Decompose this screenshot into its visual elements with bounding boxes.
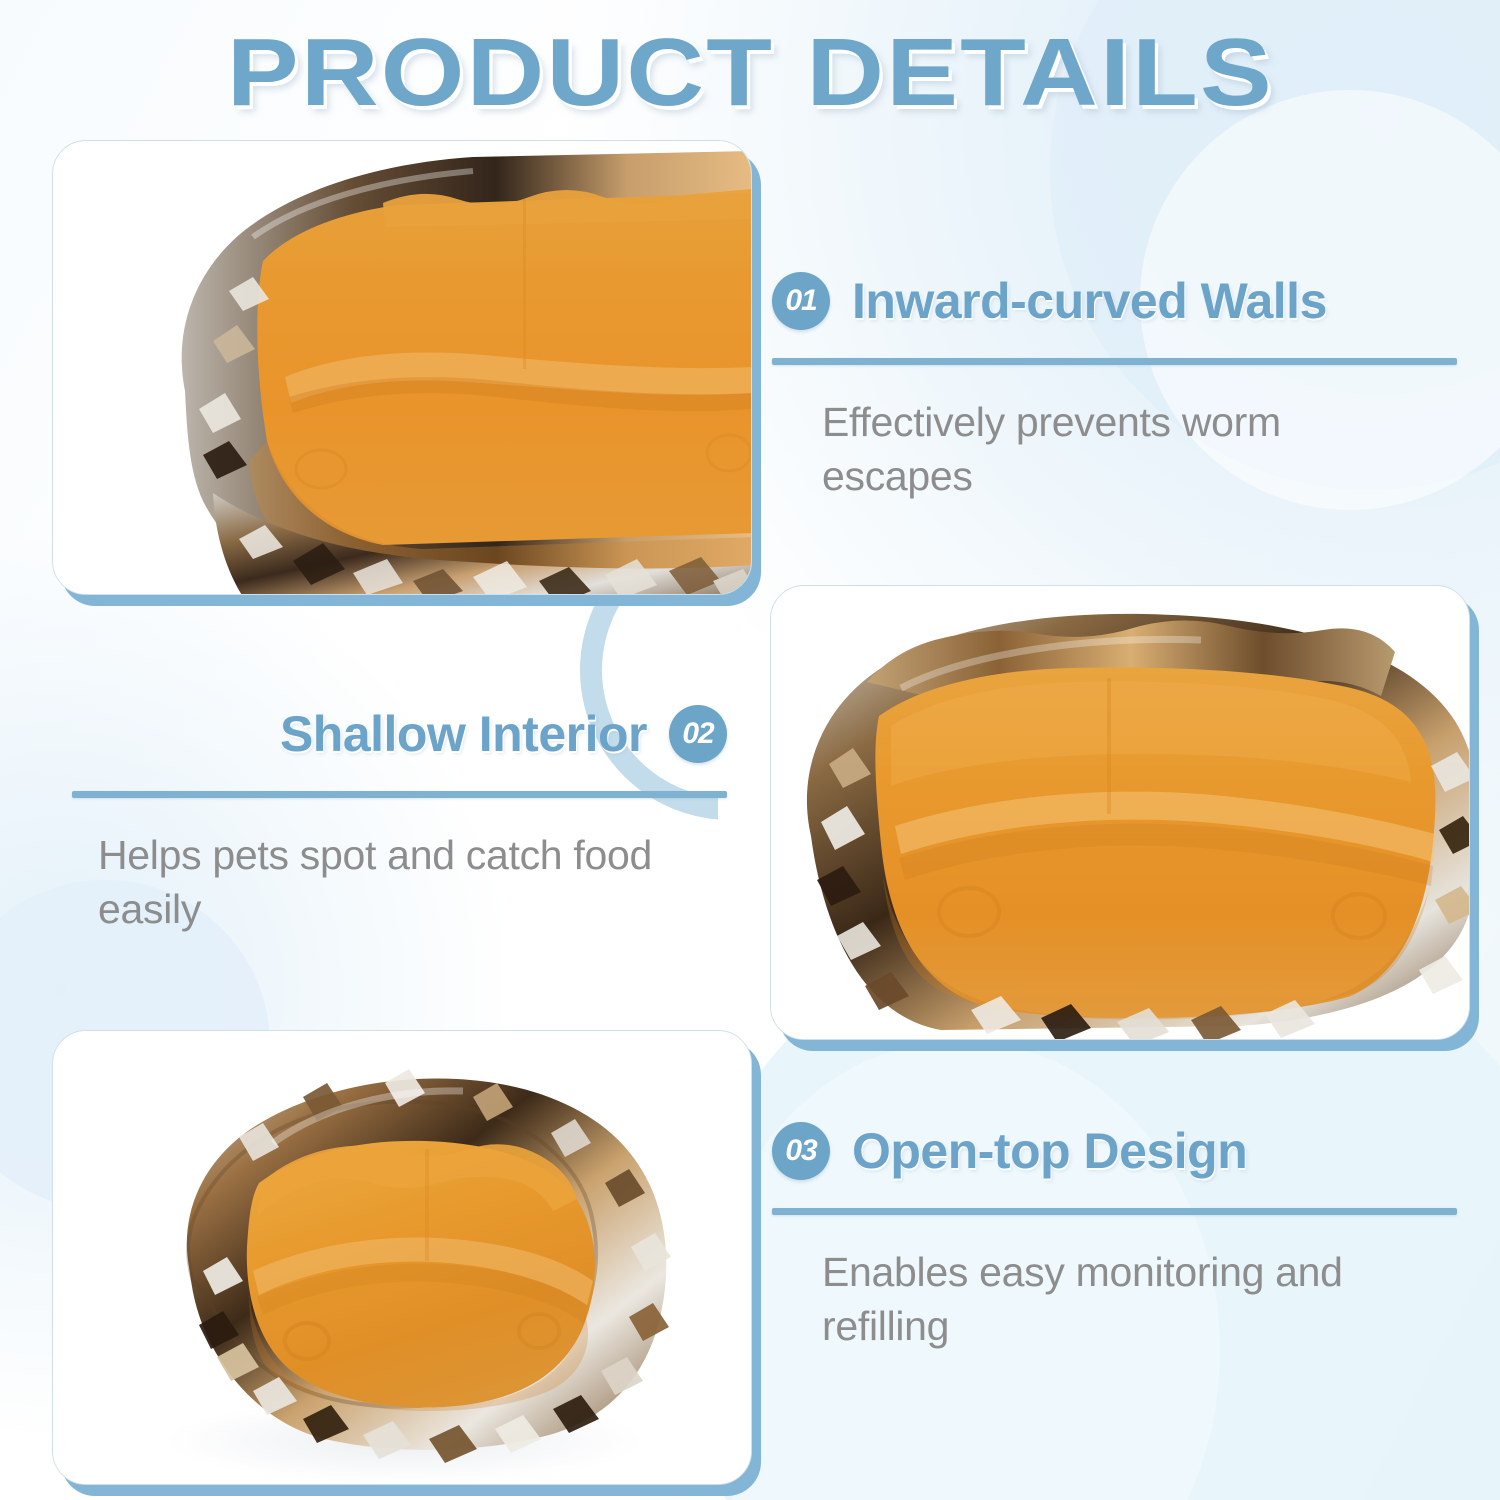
feature-block-3: 03 Open-top Design Enables easy monitori… [772,1122,1462,1353]
feature-1-title: Inward-curved Walls [852,272,1327,330]
feature-1-heading: 01 Inward-curved Walls [772,272,1462,330]
feature-3-divider [772,1208,1457,1215]
top-angle-view-of-whole-bowl [53,1031,751,1484]
feature-1-description: Effectively prevents worm escapes [772,395,1412,503]
photo-frame-1 [52,140,752,595]
photo-2-clip [771,586,1469,1039]
photo-3-clip [53,1031,751,1484]
feature-2-description: Helps pets spot and catch food easily [72,828,692,936]
close-up-of-bowl-interior-wall [53,141,751,594]
feature-3-number-badge: 03 [772,1122,830,1180]
photo-frame-3 [52,1030,752,1485]
page-header: PRODUCT DETAILS [0,18,1500,128]
page-title: PRODUCT DETAILS [226,18,1273,128]
feature-block-2: Shallow Interior 02 Helps pets spot and … [72,705,727,936]
feature-3-heading: 03 Open-top Design [772,1122,1462,1180]
feature-2-heading: Shallow Interior 02 [72,705,727,763]
feature-3-title: Open-top Design [852,1122,1247,1180]
photo-1-clip [53,141,751,594]
feature-block-1: 01 Inward-curved Walls Effectively preve… [772,272,1462,503]
feature-3-description: Enables easy monitoring and refilling [772,1245,1412,1353]
feature-2-title: Shallow Interior [280,705,647,763]
feature-2-number-badge: 02 [669,705,727,763]
feature-1-divider [772,358,1457,365]
front-view-of-shallow-bowl [771,586,1469,1039]
feature-1-number-badge: 01 [772,272,830,330]
photo-frame-2 [770,585,1470,1040]
feature-2-divider [72,791,727,798]
